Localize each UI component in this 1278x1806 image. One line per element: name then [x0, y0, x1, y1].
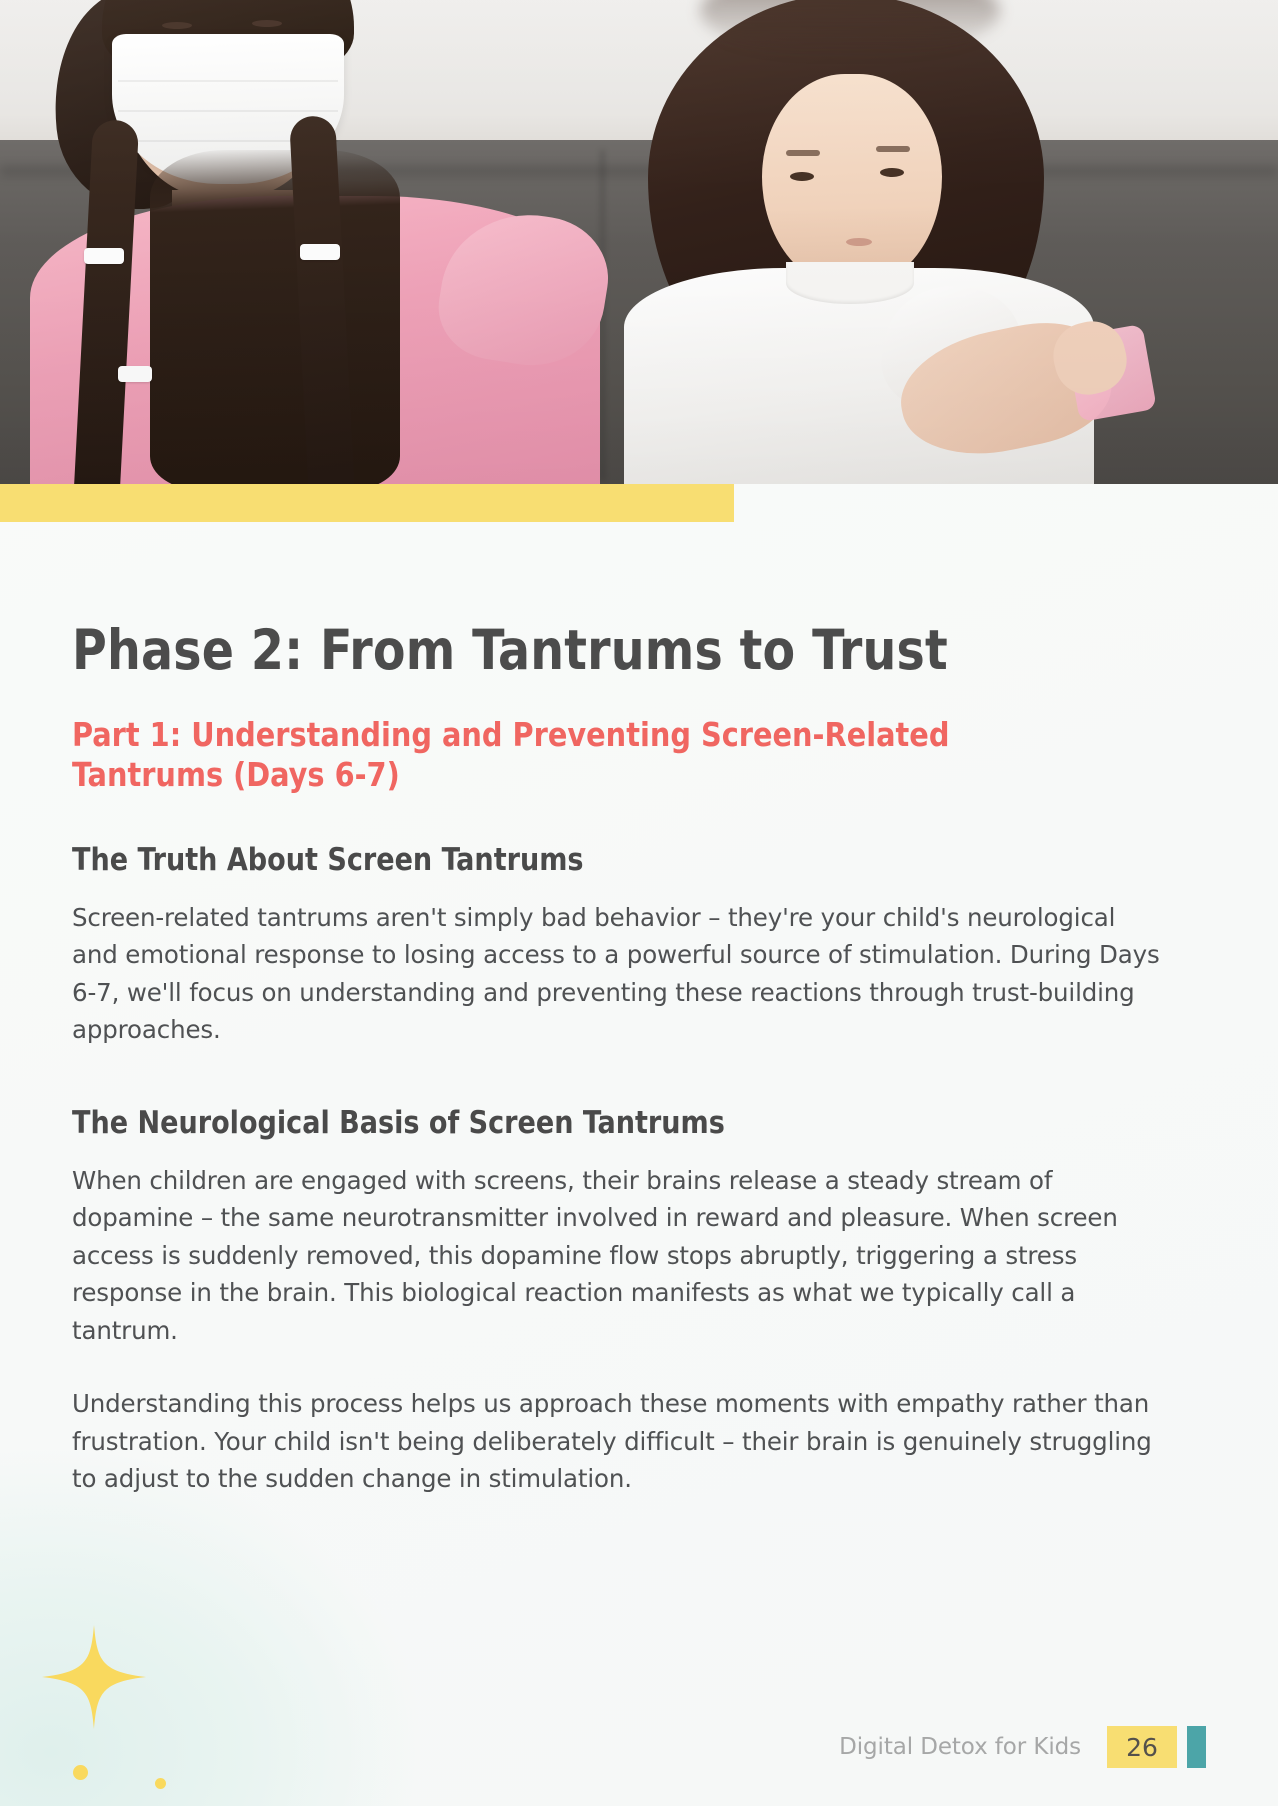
page-subtitle: Part 1: Understanding and Preventing Scr… — [72, 715, 1042, 796]
page-footer: Digital Detox for Kids 26 — [0, 1724, 1278, 1770]
page-content: Phase 2: From Tantrums to Trust Part 1: … — [72, 620, 1182, 1514]
page-number-badge: 26 — [1107, 1726, 1177, 1768]
photo-tint-overlay — [0, 0, 1278, 484]
section-paragraph: When children are engaged with screens, … — [72, 1162, 1164, 1349]
section-paragraph: Screen-related tantrums aren't simply ba… — [72, 899, 1164, 1049]
section-heading-neurological-basis: The Neurological Basis of Screen Tantrum… — [72, 1105, 1149, 1142]
section-paragraph: Understanding this process helps us appr… — [72, 1385, 1164, 1497]
footer-teal-tab — [1187, 1726, 1206, 1768]
yellow-accent-bar — [0, 484, 734, 522]
hero-photo — [0, 0, 1278, 484]
section-heading-truth-about-screen-tantrums: The Truth About Screen Tantrums — [72, 842, 1149, 879]
sparkle-icon — [42, 1625, 146, 1729]
decor-dot — [155, 1778, 166, 1789]
page-title: Phase 2: From Tantrums to Trust — [72, 620, 1138, 681]
document-page: Phase 2: From Tantrums to Trust Part 1: … — [0, 0, 1278, 1806]
footer-book-title: Digital Detox for Kids — [839, 1734, 1081, 1760]
